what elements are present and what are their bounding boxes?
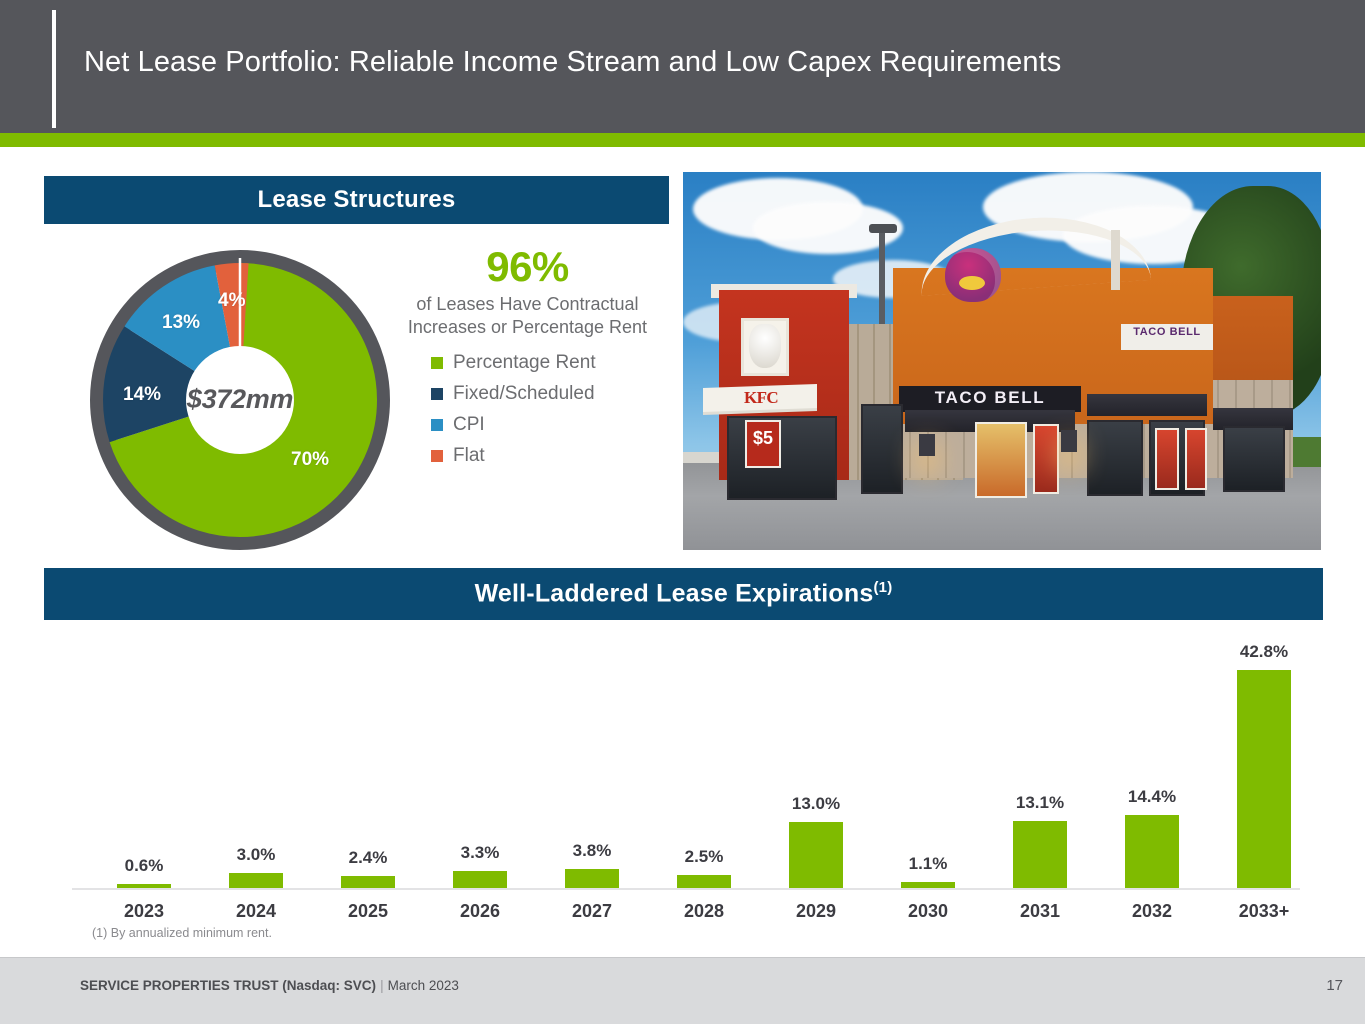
donut-label-percentage-rent: 70% xyxy=(291,449,329,471)
window-shape xyxy=(727,416,837,500)
taco-bell-arch-post xyxy=(1111,230,1120,290)
bar-value-label: 13.1% xyxy=(986,793,1094,813)
header-accent-bar xyxy=(52,10,56,128)
footer-company: SERVICE PROPERTIES TRUST (Nasdaq: SVC) xyxy=(80,978,376,993)
bar-rect xyxy=(117,884,171,888)
window-shape xyxy=(1223,426,1285,492)
bar-category-label: 2030 xyxy=(874,901,982,922)
bar-column: 42.8%2033+ xyxy=(1210,660,1318,888)
menu-poster xyxy=(975,422,1027,498)
page-number: 17 xyxy=(1326,977,1343,994)
bar-value-label: 2.4% xyxy=(314,848,422,868)
legend-swatch-icon-cpi xyxy=(431,419,443,431)
legend-label-flat: Flat xyxy=(453,446,485,465)
bar-column: 2.5%2028 xyxy=(650,660,758,888)
bar-rect xyxy=(789,822,843,888)
bar-rect xyxy=(341,876,395,888)
lease-expirations-title-superscript: (1) xyxy=(873,579,892,596)
bar-category-label: 2023 xyxy=(90,901,198,922)
bar-column: 0.6%2023 xyxy=(90,660,198,888)
donut-legend: Percentage Rent Fixed/Scheduled CPI Flat xyxy=(385,353,670,465)
lease-expirations-title: Well-Laddered Lease Expirations(1) xyxy=(475,579,893,608)
lease-expirations-title-text: Well-Laddered Lease Expirations xyxy=(475,580,874,608)
stat-percent: 96% xyxy=(385,245,670,289)
taco-bell-sign-text: TACO BELL xyxy=(899,388,1081,408)
bar-value-label: 0.6% xyxy=(90,856,198,876)
taco-bell-logo-inner-icon xyxy=(959,276,985,290)
bar-value-label: 3.3% xyxy=(426,843,534,863)
bar-rect xyxy=(1013,821,1067,888)
bar-value-label: 42.8% xyxy=(1210,642,1318,662)
bar-category-label: 2025 xyxy=(314,901,422,922)
footer-date: March 2023 xyxy=(388,978,459,993)
light-pole-head-shape xyxy=(869,224,897,233)
bar-rect xyxy=(565,869,619,888)
bar-value-label: 3.0% xyxy=(202,845,310,865)
bar-column: 14.4%2032 xyxy=(1098,660,1206,888)
bar-category-label: 2032 xyxy=(1098,901,1206,922)
donut-center-value: $372mm xyxy=(90,384,390,415)
window-shape xyxy=(1087,420,1143,496)
bar-category-label: 2024 xyxy=(202,901,310,922)
awning-shape xyxy=(1087,394,1207,416)
bar-column: 2.4%2025 xyxy=(314,660,422,888)
slide: Net Lease Portfolio: Reliable Income Str… xyxy=(0,0,1365,1024)
bar-category-label: 2026 xyxy=(426,901,534,922)
lease-expirations-panel-header: Well-Laddered Lease Expirations(1) xyxy=(44,568,1323,620)
legend-item-cpi: CPI xyxy=(431,415,670,434)
bar-column: 1.1%2030 xyxy=(874,660,982,888)
legend-swatch-icon-percentage-rent xyxy=(431,357,443,369)
donut-label-cpi: 13% xyxy=(162,312,200,334)
bar-category-label: 2031 xyxy=(986,901,1094,922)
bar-value-label: 1.1% xyxy=(874,854,982,874)
window-shape xyxy=(861,404,903,494)
menu-poster xyxy=(1185,428,1207,490)
chart-footnote: (1) By annualized minimum rent. xyxy=(92,926,272,940)
bar-category-label: 2033+ xyxy=(1210,901,1318,922)
footer-separator: | xyxy=(376,978,388,993)
legend-swatch-icon-fixed-scheduled xyxy=(431,388,443,400)
legend-item-percentage-rent: Percentage Rent xyxy=(431,353,670,372)
bar-rect xyxy=(901,882,955,888)
bar-category-label: 2027 xyxy=(538,901,646,922)
light-pole-shape xyxy=(879,230,885,330)
chart-baseline-axis xyxy=(72,888,1300,890)
stat-description: of Leases Have Contractual Increases or … xyxy=(385,293,670,339)
bar-rect xyxy=(1125,815,1179,888)
taco-bell-secondary-sign-text: TACO BELL xyxy=(1121,326,1213,338)
restaurant-photo: KFC TACO BELL TACO BELL $5 xyxy=(683,172,1321,550)
legend-label-cpi: CPI xyxy=(453,415,485,434)
bar-column: 13.1%2031 xyxy=(986,660,1094,888)
bar-category-label: 2029 xyxy=(762,901,870,922)
bar-value-label: 2.5% xyxy=(650,847,758,867)
legend-label-percentage-rent: Percentage Rent xyxy=(453,353,596,372)
page-title: Net Lease Portfolio: Reliable Income Str… xyxy=(84,46,1061,79)
menu-poster xyxy=(1033,424,1059,494)
legend-item-flat: Flat xyxy=(431,446,670,465)
footer-text: SERVICE PROPERTIES TRUST (Nasdaq: SVC)|M… xyxy=(80,978,459,993)
taco-bell-logo-icon xyxy=(945,248,1001,302)
bar-rect xyxy=(677,875,731,888)
legend-swatch-icon-flat xyxy=(431,450,443,462)
menu-poster xyxy=(1155,428,1179,490)
bar-column: 3.8%2027 xyxy=(538,660,646,888)
wall-lamp-icon xyxy=(919,434,935,456)
bar-category-label: 2028 xyxy=(650,901,758,922)
legend-item-fixed-scheduled: Fixed/Scheduled xyxy=(431,384,670,403)
bar-rect xyxy=(1237,670,1291,888)
lease-structures-panel-header: Lease Structures xyxy=(44,176,669,224)
bar-column: 13.0%2029 xyxy=(762,660,870,888)
bar-value-label: 14.4% xyxy=(1098,787,1206,807)
donut-label-flat: 4% xyxy=(218,290,245,312)
bar-value-label: 3.8% xyxy=(538,841,646,861)
lease-structures-donut-chart: 70% 14% 13% 4% $372mm xyxy=(90,240,390,560)
promo-sign-text: $5 xyxy=(745,428,781,449)
lease-structures-title: Lease Structures xyxy=(258,186,456,214)
lease-expirations-bar-chart: 0.6%20233.0%20242.4%20253.3%20263.8%2027… xyxy=(44,630,1323,930)
header-green-stripe xyxy=(0,133,1365,147)
bar-rect xyxy=(229,873,283,888)
legend-label-fixed-scheduled: Fixed/Scheduled xyxy=(453,384,595,403)
bar-column: 3.0%2024 xyxy=(202,660,310,888)
bar-value-label: 13.0% xyxy=(762,794,870,814)
bar-column: 3.3%2026 xyxy=(426,660,534,888)
kfc-colonel-face-icon xyxy=(749,324,781,368)
lease-structures-stat-block: 96% of Leases Have Contractual Increases… xyxy=(385,245,670,477)
slide-header: Net Lease Portfolio: Reliable Income Str… xyxy=(0,0,1365,133)
kfc-sign-text: KFC xyxy=(713,388,809,408)
bar-rect xyxy=(453,871,507,888)
wall-lamp-icon xyxy=(1061,430,1077,452)
